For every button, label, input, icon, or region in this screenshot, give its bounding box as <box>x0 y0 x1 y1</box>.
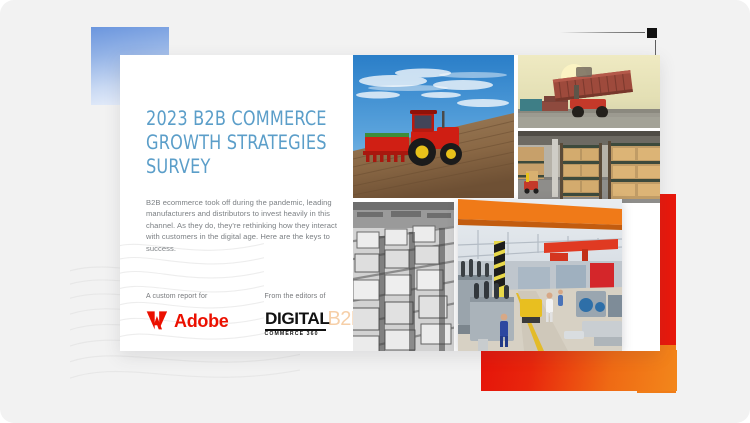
photo-warehouse-racks <box>518 131 660 203</box>
report-cover-canvas: 2023 B2B COMMERCE GROWTH STRATEGIES SURV… <box>0 0 750 423</box>
photo-industrial-machinery-bw <box>353 202 454 351</box>
photo-tractor-field <box>353 55 514 198</box>
report-cover-card: 2023 B2B COMMERCE GROWTH STRATEGIES SURV… <box>120 55 660 351</box>
crosshair-marker-square <box>645 26 659 40</box>
crosshair-horizontal-line <box>560 32 652 33</box>
photo-shipping-container <box>518 55 660 128</box>
photo-factory-floor <box>458 199 622 351</box>
photo-collage <box>120 55 660 351</box>
red-orange-gradient-bar <box>481 350 677 391</box>
